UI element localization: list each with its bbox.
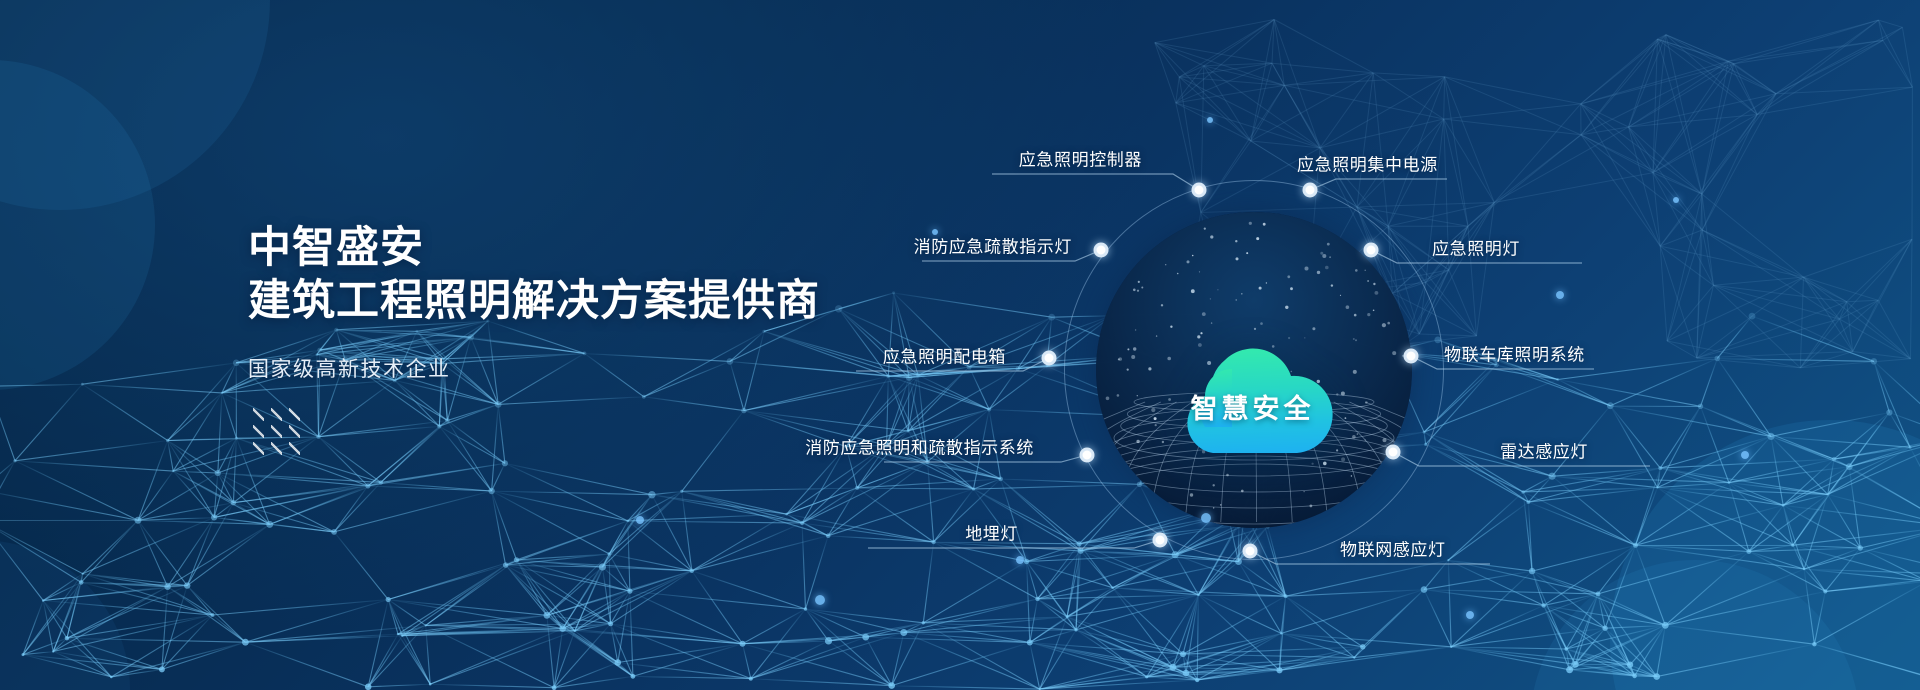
glow-dot: [815, 595, 825, 605]
decorative-circle-top-left-2: [0, 60, 155, 390]
node-dot-buried-ground-light[interactable]: [1153, 533, 1168, 548]
glow-dot: [1207, 117, 1213, 123]
glow-dot: [1016, 556, 1024, 564]
node-dot-fire-emergency-evacuation-sign[interactable]: [1094, 243, 1109, 258]
slash-mark: [289, 425, 300, 438]
node-label-fire-emergency-lighting-system[interactable]: 消防应急照明和疏散指示系统: [805, 434, 1034, 459]
node-label-fire-emergency-evacuation-sign[interactable]: 消防应急疏散指示灯: [914, 233, 1072, 258]
hero-subtitle: 国家级高新技术企业: [248, 353, 908, 383]
node-label-radar-sensor-lamp[interactable]: 雷达感应灯: [1500, 438, 1588, 463]
glow-dot: [1556, 291, 1564, 299]
node-dot-emergency-lighting-distribution-box[interactable]: [1042, 351, 1057, 366]
slash-mark: [271, 442, 282, 455]
hero-text-block: 中智盛安 建筑工程照明解决方案提供商 国家级高新技术企业: [248, 222, 908, 383]
slash-mark: [253, 408, 264, 421]
node-label-iot-garage-lighting-system[interactable]: 物联车库照明系统: [1444, 341, 1585, 366]
slash-mark: [253, 442, 264, 455]
page-title: 中智盛安 建筑工程照明解决方案提供商: [248, 222, 908, 328]
node-dot-emergency-lighting-lamp[interactable]: [1364, 243, 1379, 258]
node-dot-fire-emergency-lighting-system[interactable]: [1080, 448, 1095, 463]
node-label-buried-ground-light[interactable]: 地埋灯: [965, 520, 1018, 545]
node-dot-iot-sensor-lamp[interactable]: [1243, 544, 1258, 559]
node-label-iot-sensor-lamp[interactable]: 物联网感应灯: [1340, 536, 1446, 561]
decorative-slash-grid: [253, 408, 307, 459]
glow-dot: [636, 516, 644, 524]
decorative-circle-bottom-left: [0, 540, 130, 690]
slash-mark: [271, 425, 282, 438]
node-dot-emergency-lighting-controller[interactable]: [1192, 183, 1207, 198]
slash-mark: [271, 408, 282, 421]
glow-dot: [1673, 197, 1679, 203]
slash-mark: [289, 408, 300, 421]
node-dot-radar-sensor-lamp[interactable]: [1386, 445, 1401, 460]
glow-dot: [1741, 451, 1749, 459]
decorative-circle-bottom-right-1: [1610, 420, 1920, 690]
glow-dot: [1201, 513, 1211, 523]
node-label-emergency-lighting-distribution-box[interactable]: 应急照明配电箱: [883, 343, 1006, 368]
decorative-circle-top-left-1: [0, 0, 270, 210]
title-line-1: 中智盛安: [248, 224, 424, 272]
node-dot-emergency-lighting-central-power[interactable]: [1303, 183, 1318, 198]
slash-mark: [289, 442, 300, 455]
node-dot-iot-garage-lighting-system[interactable]: [1404, 349, 1419, 364]
title-line-2: 建筑工程照明解决方案提供商: [248, 275, 908, 328]
node-label-emergency-lighting-controller[interactable]: 应急照明控制器: [1019, 146, 1142, 171]
cloud-badge: 智慧安全: [1150, 318, 1355, 468]
promo-banner: 中智盛安 建筑工程照明解决方案提供商 国家级高新技术企业: [0, 0, 1920, 690]
glow-dot: [1466, 611, 1474, 619]
glow-dot: [932, 229, 938, 235]
node-label-emergency-lighting-central-power[interactable]: 应急照明集中电源: [1297, 151, 1438, 176]
slash-mark: [253, 425, 264, 438]
cloud-label: 智慧安全: [1150, 318, 1355, 468]
node-label-emergency-lighting-lamp[interactable]: 应急照明灯: [1432, 235, 1520, 260]
decorative-circle-bottom-right-2: [1530, 560, 1860, 690]
